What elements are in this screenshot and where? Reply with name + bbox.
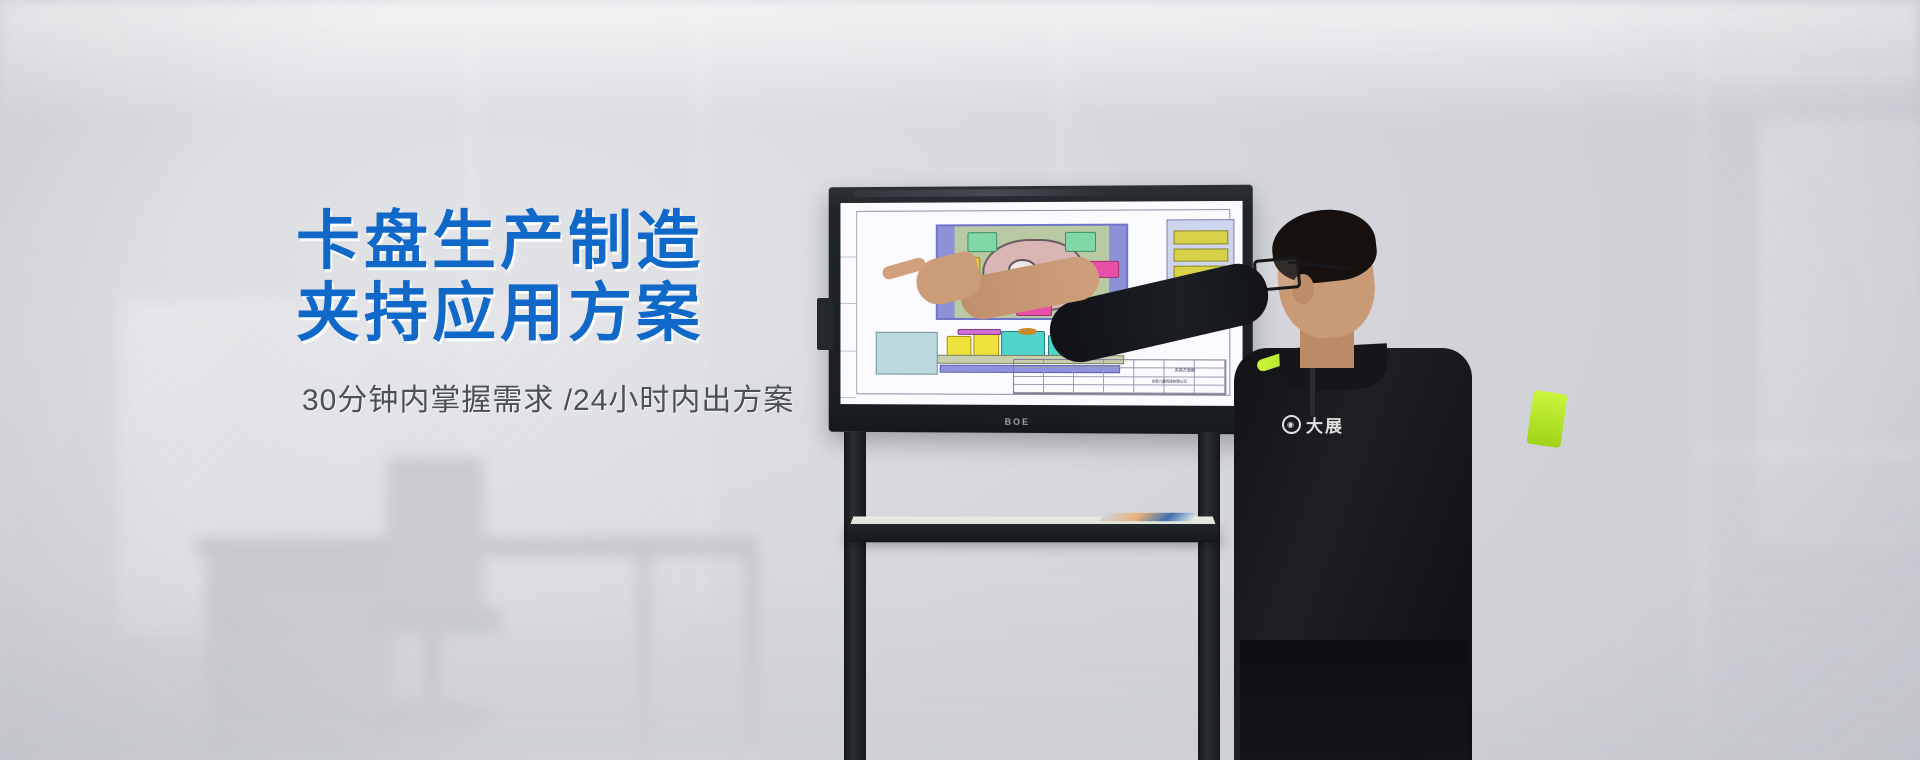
hero-banner: 卡盘生产制造 夹持应用方案 30分钟内掌握需求 /24小时内出方案 xyxy=(0,0,1920,760)
headline-line-1: 卡盘生产制造 xyxy=(296,205,704,277)
display-io-box xyxy=(817,298,833,350)
display-brand-logo: BOE xyxy=(1005,417,1030,427)
shirt-logo: ◉ 大展 xyxy=(1282,412,1344,437)
presenter: ◉ 大展 xyxy=(1160,196,1580,760)
ceiling-panel xyxy=(0,0,1920,120)
glass-partition xyxy=(1760,120,1920,542)
wall-seam xyxy=(1700,70,1920,73)
stand-column-left xyxy=(844,432,866,760)
display-camera-bar xyxy=(854,189,1107,197)
shirt-logo-text: 大展 xyxy=(1306,412,1344,437)
brand-mark-icon: ◉ xyxy=(1282,415,1301,434)
presenter-lower-body xyxy=(1240,640,1468,760)
shirt-sleeve-accent xyxy=(1526,390,1567,448)
cad-view-iso xyxy=(876,332,937,374)
drawing-zone-column xyxy=(840,211,857,394)
shirt-placket xyxy=(1310,362,1315,416)
wall-seam xyxy=(1060,0,1063,200)
